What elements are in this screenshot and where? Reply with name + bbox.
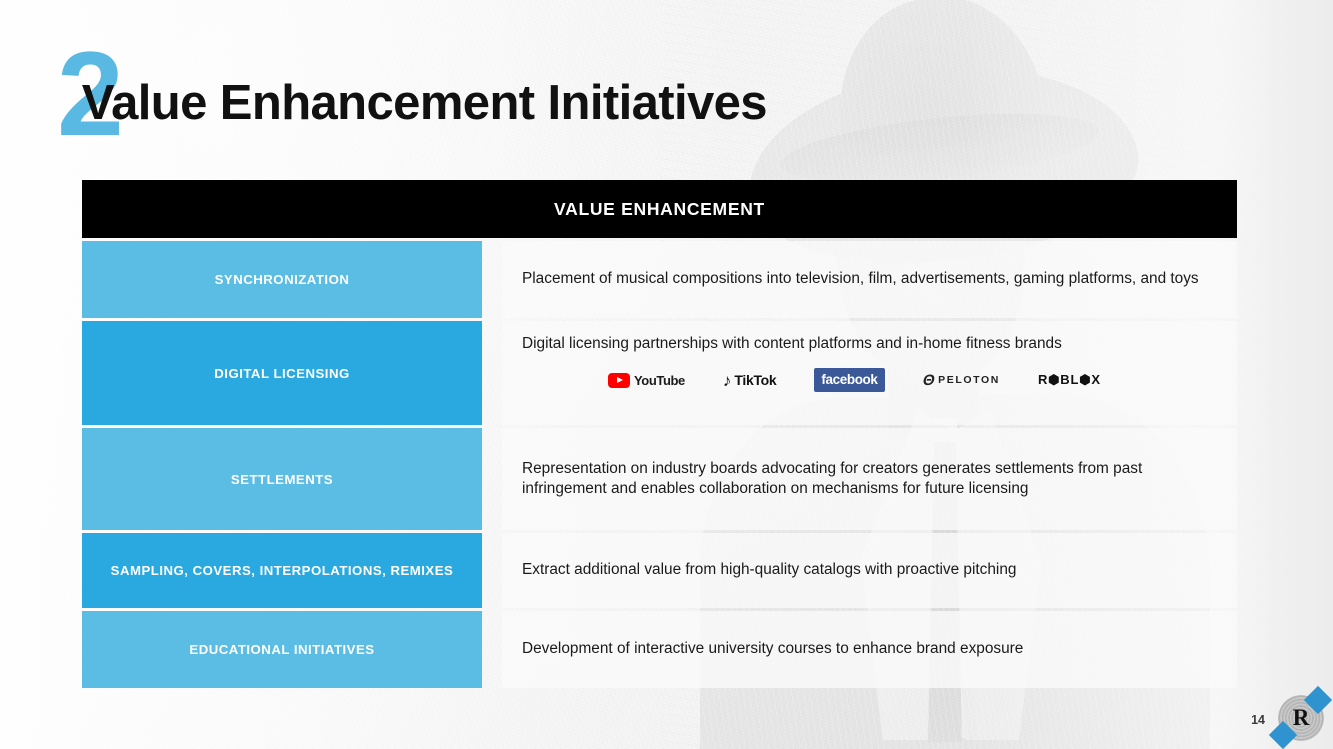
row-category-educational-initiatives: EDUCATIONAL INITIATIVES (82, 611, 482, 688)
roblox-logo: R⬢BL⬢X (1038, 370, 1101, 390)
facebook-wordmark: facebook (821, 372, 877, 387)
row-description-cell: Digital licensing partnerships with cont… (502, 321, 1237, 425)
youtube-play-icon (608, 373, 630, 388)
row-description-text: Development of interactive university co… (522, 639, 1219, 659)
table-header: VALUE ENHANCEMENT (82, 180, 1237, 238)
roblox-wordmark: R⬢BL⬢X (1038, 372, 1101, 388)
company-logo: R (1272, 690, 1330, 746)
row-description-cell: Representation on industry boards advoca… (502, 428, 1237, 530)
row-description-text: Digital licensing partnerships with cont… (522, 334, 1219, 354)
row-category-settlements: SETTLEMENTS (82, 428, 482, 530)
row-description-text: Representation on industry boards advoca… (522, 459, 1219, 499)
page-number: 14 (1251, 713, 1265, 727)
facebook-logo: facebook (814, 370, 884, 390)
tiktok-wordmark: TikTok (734, 372, 776, 388)
row-description-cell: Development of interactive university co… (502, 611, 1237, 688)
peloton-logo: Θ PELOTON (923, 370, 1000, 390)
logo-monogram: R (1272, 690, 1330, 746)
table-row: DIGITAL LICENSING Digital licensing part… (82, 321, 1237, 425)
row-category-sampling-covers-interpolations-remixes: SAMPLING, COVERS, INTERPOLATIONS, REMIXE… (82, 533, 482, 608)
row-description-cell: Placement of musical compositions into t… (502, 241, 1237, 318)
slide-canvas: 2 Value Enhancement Initiatives VALUE EN… (0, 0, 1333, 749)
peloton-mark-icon: Θ (921, 373, 936, 388)
row-category-digital-licensing: DIGITAL LICENSING (82, 321, 482, 425)
facebook-badge: facebook (814, 368, 884, 392)
tiktok-note-icon: ♪ (723, 372, 732, 389)
youtube-logo: YouTube (608, 370, 685, 390)
slide-title-block: 2 Value Enhancement Initiatives (57, 22, 767, 137)
table-row: SAMPLING, COVERS, INTERPOLATIONS, REMIXE… (82, 533, 1237, 608)
row-description-text: Placement of musical compositions into t… (522, 269, 1219, 289)
row-category-synchronization: SYNCHRONIZATION (82, 241, 482, 318)
table-row: SETTLEMENTS Representation on industry b… (82, 428, 1237, 530)
value-enhancement-table: VALUE ENHANCEMENT SYNCHRONIZATION Placem… (82, 180, 1237, 688)
row-description-text: Extract additional value from high-quali… (522, 560, 1219, 580)
table-row: SYNCHRONIZATION Placement of musical com… (82, 241, 1237, 318)
page-title: Value Enhancement Initiatives (82, 75, 767, 131)
tiktok-logo: ♪ TikTok (723, 370, 777, 390)
row-description-cell: Extract additional value from high-quali… (502, 533, 1237, 608)
youtube-wordmark: YouTube (634, 373, 685, 388)
table-row: EDUCATIONAL INITIATIVES Development of i… (82, 611, 1237, 688)
peloton-wordmark: PELOTON (938, 374, 1000, 386)
partner-logo-strip: YouTube ♪ TikTok facebook Θ PELOTON (522, 370, 1219, 390)
